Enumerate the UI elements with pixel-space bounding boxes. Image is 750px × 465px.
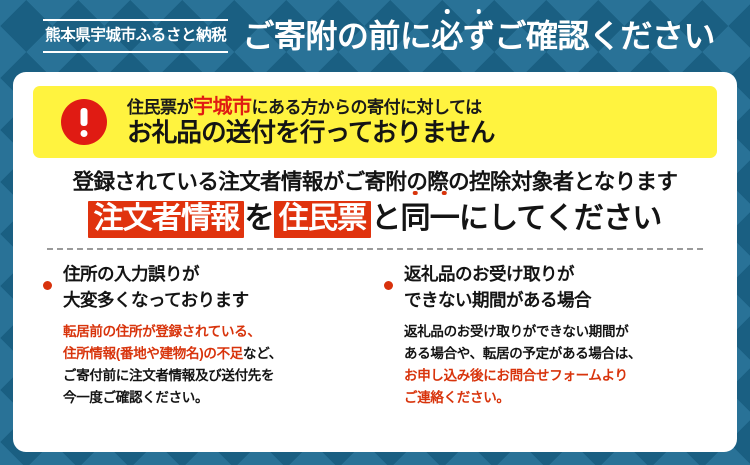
note-body: 転居前の住所が登録されている、 住所情報(番地や建物名)の不足など、 ご寄付前に… bbox=[63, 321, 370, 408]
statement-tail-suffix: にしてください bbox=[459, 202, 662, 235]
headline-suffix: ご確認ください bbox=[494, 20, 715, 52]
exclamation-icon bbox=[61, 99, 107, 145]
highlight-residence-cert: 住民票 bbox=[274, 201, 372, 238]
note-body-line-1: 返礼品のお受け取りができない期間が bbox=[404, 324, 628, 339]
note-title-line-2: できない期間がある場合 bbox=[404, 288, 711, 313]
note-body-line-2: 住所情報(番地や建物名)の不足 bbox=[63, 346, 243, 361]
note-title-line-2: 大変多くなっております bbox=[63, 288, 370, 313]
note-title-line-1: 返礼品のお受け取りが bbox=[404, 262, 711, 287]
statement-particle: を bbox=[244, 202, 273, 235]
alert-box: 住民票が宇城市にある方からの寄付に対しては お礼品の送付を行っておりません bbox=[33, 86, 717, 158]
statement-block: 登録されている注文者情報がご寄附の際の控除対象者となります 注文者情報を住民票と… bbox=[33, 158, 717, 235]
highlight-orderer-info: 注文者情報 bbox=[88, 201, 244, 238]
statement-tail-prefix: と bbox=[371, 202, 400, 235]
note-body-line-4: 今一度ご確認ください。 bbox=[63, 390, 208, 405]
note-body-line-2: ある場合や、転居の予定がある場合は、 bbox=[404, 346, 641, 361]
note-title-line-1: 住所の入力誤りが bbox=[63, 262, 370, 287]
notes-columns: 住所の入力誤りが 大変多くなっております 転居前の住所が登録されている、 住所情… bbox=[33, 250, 717, 444]
note-body-line-3: ご寄付前に注文者情報及び送付先を bbox=[63, 368, 274, 383]
note-body-line-3: お申し込み後にお問合せフォームより bbox=[404, 368, 628, 383]
notice-banner: 熊本県宇城市ふるさと納税 ご寄附の前に必ずご確認ください 住民票が宇城市にある方… bbox=[0, 0, 750, 465]
note-item-address: 住所の入力誤りが 大変多くなっております 転居前の住所が登録されている、 住所情… bbox=[43, 262, 370, 444]
banner-header: 熊本県宇城市ふるさと納税 ご寄附の前に必ずご確認ください bbox=[0, 0, 750, 72]
alert-line-1: 住民票が宇城市にある方からの寄付に対しては bbox=[127, 97, 495, 117]
alert-line-2: お礼品の送付を行っておりません bbox=[127, 120, 495, 147]
alert-city-name: 宇城市 bbox=[193, 96, 252, 118]
page-title: ご寄附の前に必ずご確認ください bbox=[242, 20, 715, 52]
bullet-icon bbox=[43, 281, 52, 290]
note-body-line-4: ご連絡ください。 bbox=[404, 390, 510, 405]
municipality-kicker: 熊本県宇城市ふるさと納税 bbox=[43, 19, 228, 53]
note-body-line-1: 転居前の住所が登録されている、 bbox=[63, 324, 261, 339]
headline-prefix: ご寄附の前に bbox=[242, 20, 431, 52]
note-body: 返礼品のお受け取りができない期間が ある場合や、転居の予定がある場合は、 お申し… bbox=[404, 321, 711, 408]
alert-text: 住民票が宇城市にある方からの寄付に対しては お礼品の送付を行っておりません bbox=[127, 97, 495, 147]
note-item-delivery: 返礼品のお受け取りが できない期間がある場合 返礼品のお受け取りができない期間が… bbox=[384, 262, 711, 444]
content-card: 住民票が宇城市にある方からの寄付に対しては お礼品の送付を行っておりません 登録… bbox=[13, 72, 737, 452]
statement-line-2: 注文者情報を住民票と同一にしてください bbox=[33, 202, 717, 236]
statement-emphasis: 同一 bbox=[401, 202, 459, 236]
alert-line1-prefix: 住民票が bbox=[127, 98, 193, 117]
headline-emphasis: 必ず bbox=[431, 20, 494, 52]
bullet-icon bbox=[384, 281, 393, 290]
statement-line-1: 登録されている注文者情報がご寄附の際の控除対象者となります bbox=[33, 171, 717, 195]
note-body-line-2-tail: など、 bbox=[243, 346, 282, 361]
alert-line1-suffix: にある方からの寄付に対しては bbox=[252, 98, 482, 117]
